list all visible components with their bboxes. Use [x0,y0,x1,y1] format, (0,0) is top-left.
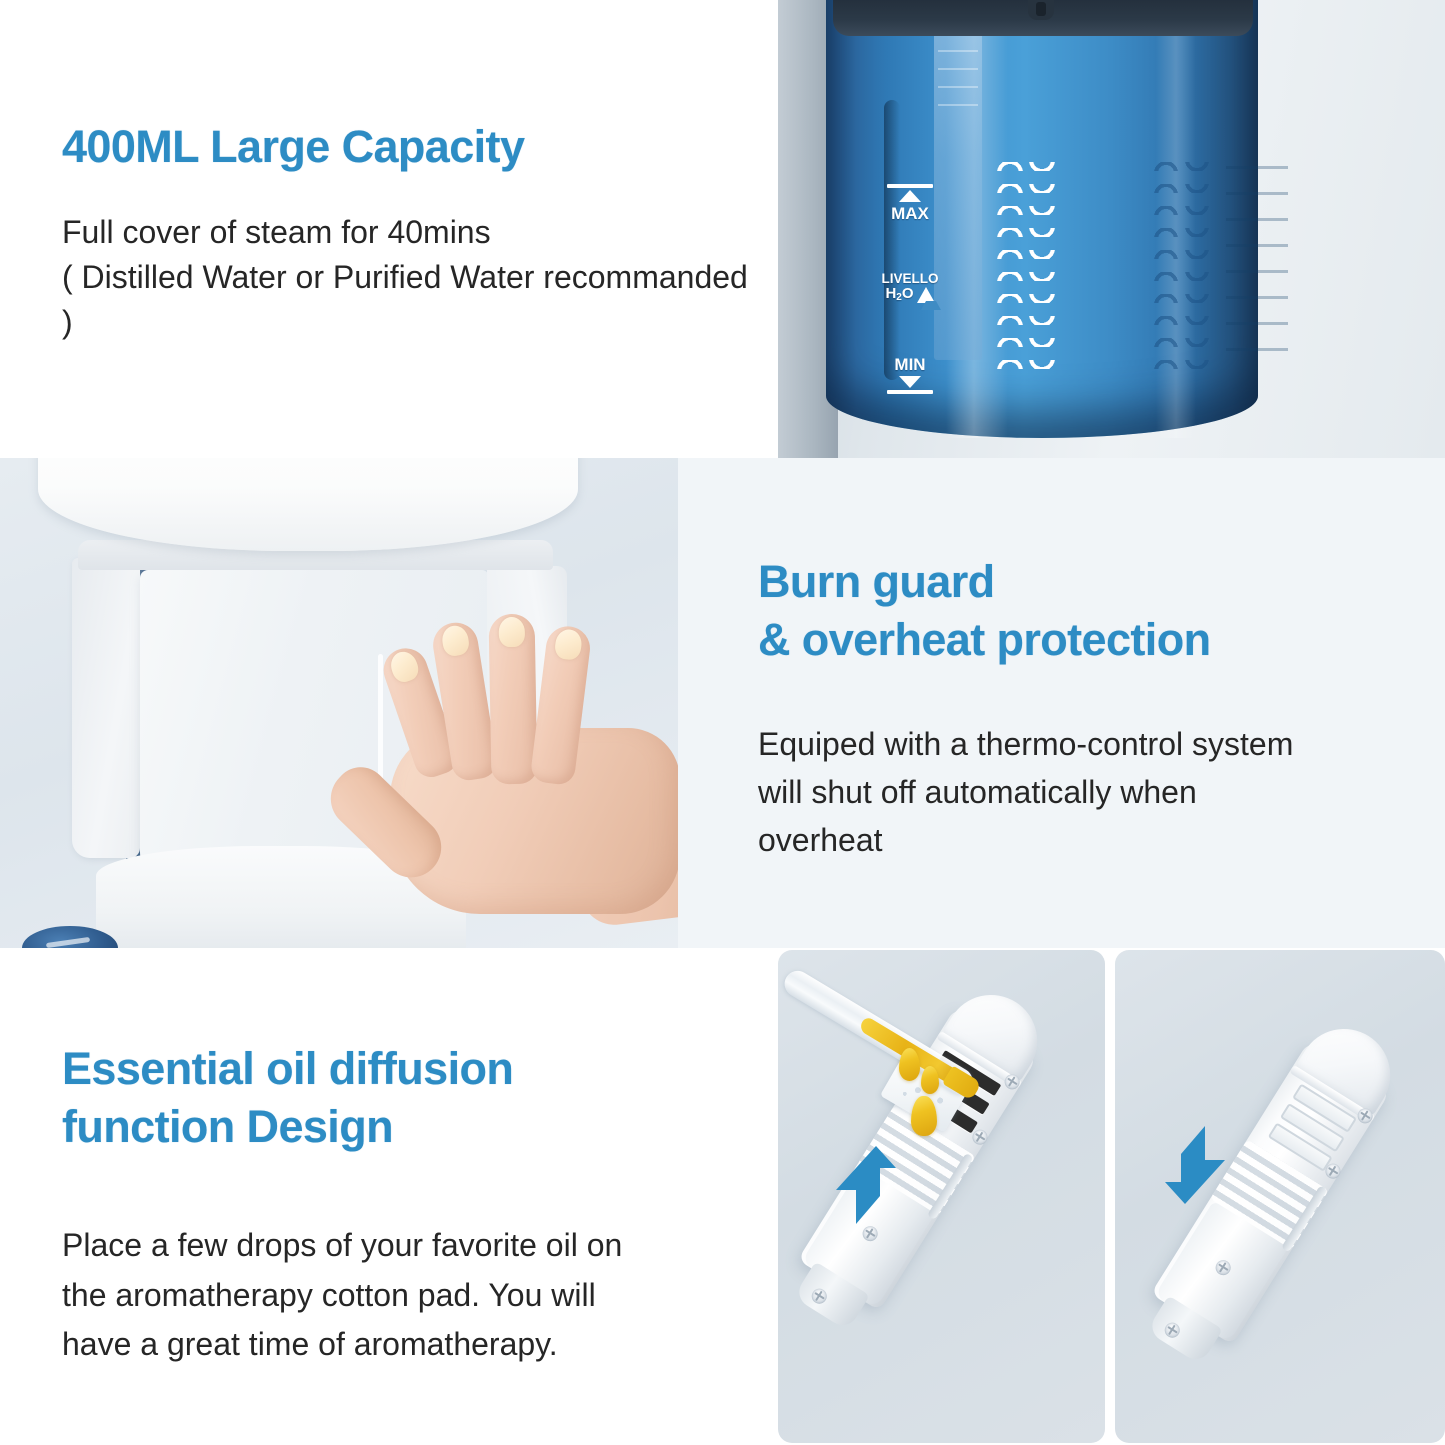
oil-dropper-open-panel [778,950,1105,1443]
oil-drop [911,1096,937,1136]
water-tank-photo: MAX LIVELLO H2O MIN [778,0,1445,458]
water-warning-triangle-icon [917,287,935,303]
tank-max-marking: MAX [874,205,946,222]
essential-oil-text-cell: Essential oil diffusion function Design … [0,948,778,1445]
down-arrow-icon [830,1146,898,1228]
h2o-h: H [885,285,896,302]
tank-min-marking: MIN [874,356,946,373]
infographic-page: 400ML Large Capacity Full cover of steam… [0,0,1445,1445]
hand-on-burn-guard-photo [0,458,678,948]
humidifier-dark-top-cap [833,0,1253,36]
fingernail [554,628,583,661]
diffuser-cap-closed-panel [1115,950,1445,1443]
fingernail [387,648,421,685]
capacity-text-cell: 400ML Large Capacity Full cover of steam… [0,0,778,458]
h2o-o: O [902,285,914,302]
capacity-headline: 400ML Large Capacity [62,118,762,176]
burn-guard-body-text: Equiped with a thermo-control system wil… [758,720,1418,864]
up-arrow-icon [1163,1122,1231,1204]
hand-photo [330,598,678,928]
fingernail [440,624,470,658]
essential-oil-body-text: Place a few drops of your favorite oil o… [62,1221,752,1370]
essential-oil-photo-cell [778,948,1445,1445]
oil-drop [921,1066,939,1094]
essential-oil-copy-block: Essential oil diffusion function Design … [62,1040,752,1370]
max-up-triangle-icon [899,190,921,202]
cap-knob [1028,0,1054,20]
capacity-copy-block: 400ML Large Capacity Full cover of steam… [62,118,762,346]
burn-guard-text-cell: Burn guard & overheat protection Equiped… [678,458,1445,948]
max-label: MAX [891,204,929,223]
burn-guard-headline: Burn guard & overheat protection [758,553,1418,668]
oil-drop [899,1048,920,1081]
tank-seam-shadow [884,100,900,380]
finger [489,614,538,785]
rear-water-wave-graphic [1151,162,1213,377]
left-housing-wing [72,558,140,858]
fingernail [499,617,526,647]
min-label: MIN [894,355,925,374]
essential-oil-headline: Essential oil diffusion function Design [62,1040,752,1155]
oil-panels-wrapper [778,948,1445,1445]
burn-guard-copy-block: Burn guard & overheat protection Equiped… [758,553,1418,864]
h2o-formula: H2O [885,286,934,303]
front-water-wave-graphic [994,162,1058,377]
capacity-body-text: Full cover of steam for 40mins ( Distill… [62,210,762,346]
min-down-triangle-icon [899,376,921,388]
rear-printed-text-column [1226,166,1288,366]
tank-water-level-marking: LIVELLO H2O [866,272,954,303]
